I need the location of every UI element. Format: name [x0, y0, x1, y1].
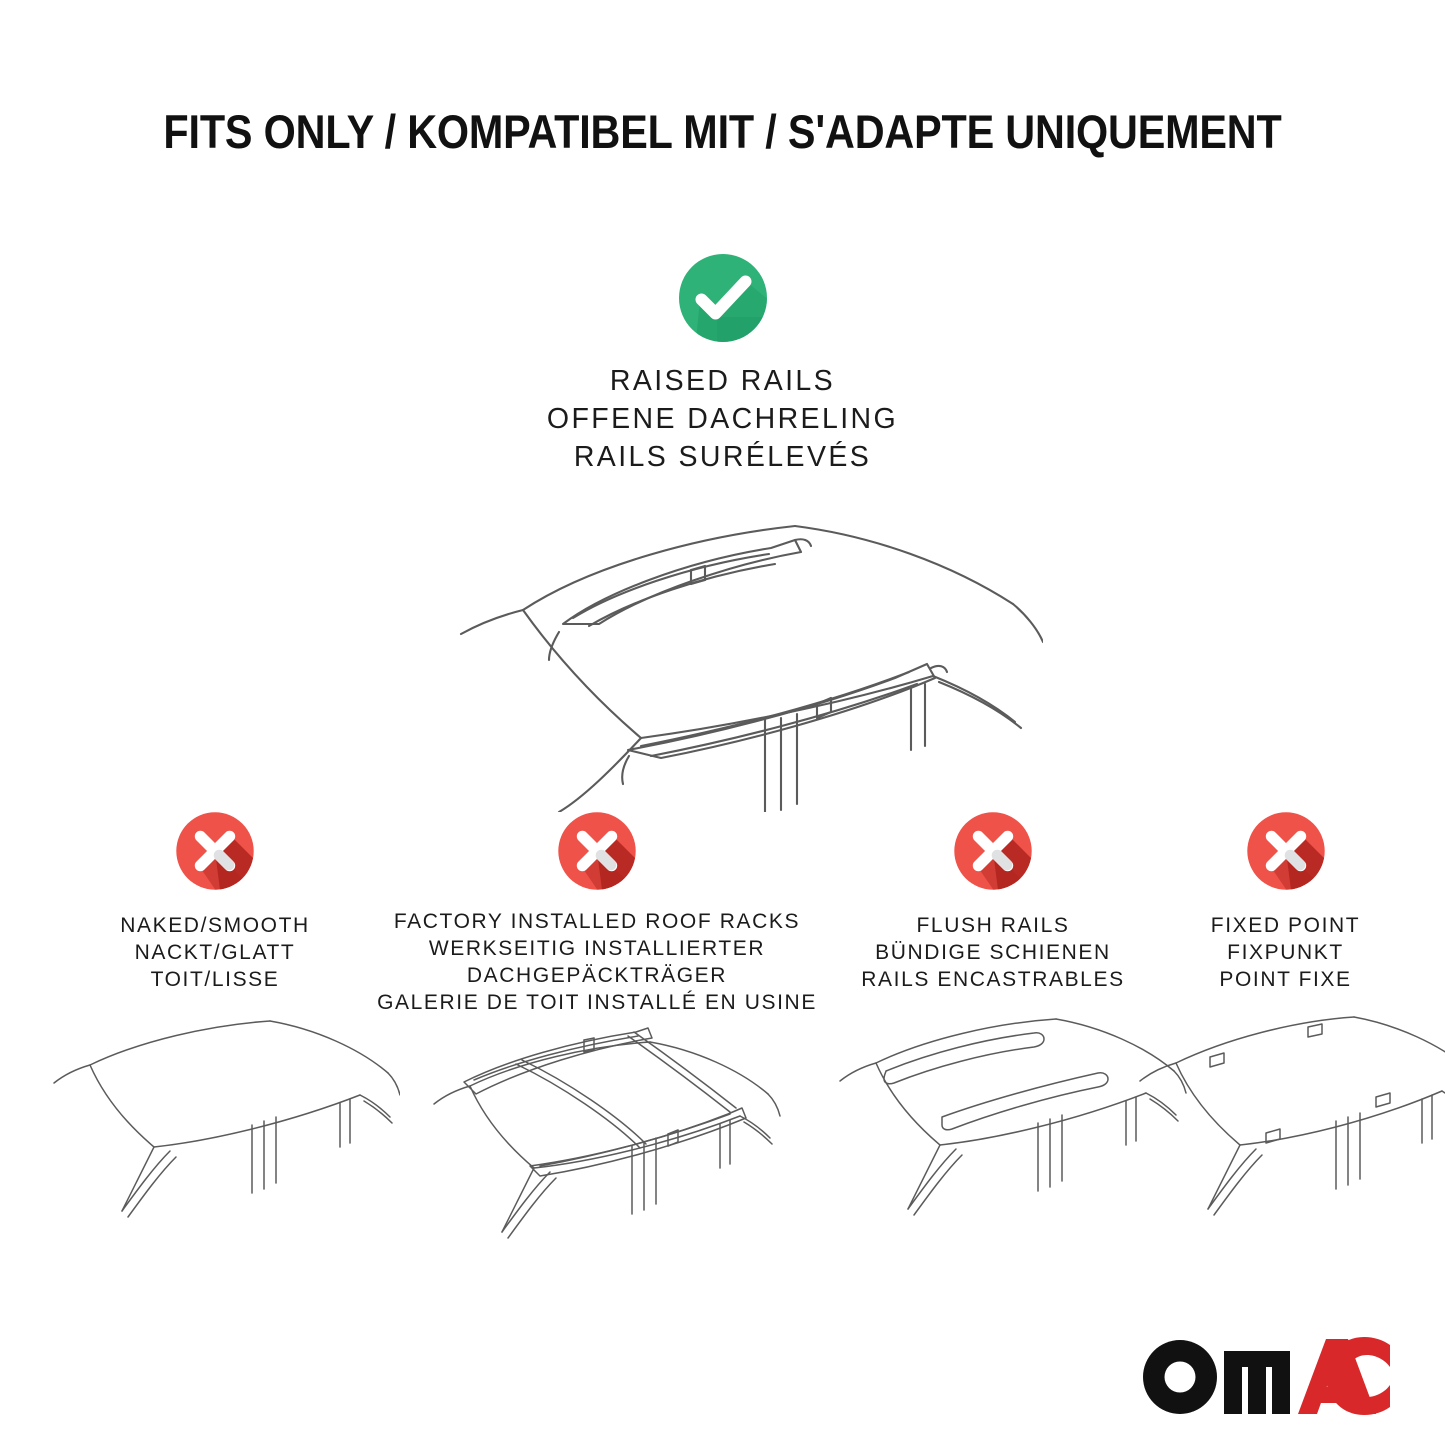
incompatible-caption-line: BÜNDIGE SCHIENEN — [818, 939, 1168, 966]
compatible-caption-line: OFFENE DACHRELING — [0, 400, 1445, 438]
fitment-guide-page: FITS ONLY / KOMPATIBEL MIT / S'ADAPTE UN… — [0, 0, 1445, 1445]
x-circle-icon — [372, 808, 822, 908]
x-circle-icon — [5, 808, 425, 908]
incompatible-caption-line: NACKT/GLATT — [5, 939, 425, 966]
incompatible-column-fixed-point: FIXED POINT FIXPUNKT POINT FIXE — [1128, 808, 1443, 1246]
incompatible-caption-line: FIXED POINT — [1128, 912, 1443, 939]
incompatible-caption-line: FLUSH RAILS — [818, 912, 1168, 939]
omac-logo-o — [1143, 1340, 1217, 1414]
compatible-caption-line: RAISED RAILS — [0, 362, 1445, 400]
incompatible-caption-line: FIXPUNKT — [1128, 939, 1443, 966]
incompatible-column-flush-rails: FLUSH RAILS BÜNDIGE SCHIENEN RAILS ENCAS… — [818, 808, 1168, 1246]
incompatible-caption-line: DACHGEPÄCKTRÄGER — [372, 962, 822, 989]
x-circle-icon — [1128, 808, 1443, 908]
car-roof-naked-smooth-sketch — [5, 1001, 425, 1246]
incompatible-caption-line: GALERIE DE TOIT INSTALLÉ EN USINE — [372, 989, 822, 1016]
car-roof-raised-rails-sketch — [403, 492, 1043, 817]
x-circle-icon — [818, 808, 1168, 908]
incompatible-caption: FLUSH RAILS BÜNDIGE SCHIENEN RAILS ENCAS… — [818, 908, 1168, 993]
page-title: FITS ONLY / KOMPATIBEL MIT / S'ADAPTE UN… — [87, 104, 1359, 159]
incompatible-caption: FIXED POINT FIXPUNKT POINT FIXE — [1128, 908, 1443, 993]
compatible-caption-line: RAILS SURÉLEVÉS — [0, 438, 1445, 476]
incompatible-column-naked-smooth: NAKED/SMOOTH NACKT/GLATT TOIT/LISSE — [5, 808, 425, 1246]
car-roof-flush-rails-sketch — [818, 1001, 1168, 1246]
incompatible-column-factory-roof-racks: FACTORY INSTALLED ROOF RACKS WERKSEITIG … — [372, 808, 822, 1269]
omac-logo-m — [1224, 1351, 1290, 1414]
incompatible-caption-line: NAKED/SMOOTH — [5, 912, 425, 939]
incompatible-caption-line: WERKSEITIG INSTALLIERTER — [372, 935, 822, 962]
compatible-status-row — [0, 248, 1445, 353]
omac-logo — [1140, 1337, 1390, 1415]
car-roof-factory-roof-racks-sketch — [372, 1024, 822, 1269]
incompatible-caption: FACTORY INSTALLED ROOF RACKS WERKSEITIG … — [372, 908, 822, 1016]
incompatible-caption-line: RAILS ENCASTRABLES — [818, 966, 1168, 993]
check-circle-icon — [673, 248, 773, 348]
incompatible-columns: NAKED/SMOOTH NACKT/GLATT TOIT/LISSE — [0, 808, 1445, 1278]
incompatible-caption-line: FACTORY INSTALLED ROOF RACKS — [372, 908, 822, 935]
incompatible-caption-line: POINT FIXE — [1128, 966, 1443, 993]
compatible-caption: RAISED RAILS OFFENE DACHRELING RAILS SUR… — [0, 362, 1445, 476]
incompatible-caption: NAKED/SMOOTH NACKT/GLATT TOIT/LISSE — [5, 908, 425, 993]
car-roof-fixed-point-sketch — [1128, 1001, 1443, 1246]
incompatible-caption-line: TOIT/LISSE — [5, 966, 425, 993]
